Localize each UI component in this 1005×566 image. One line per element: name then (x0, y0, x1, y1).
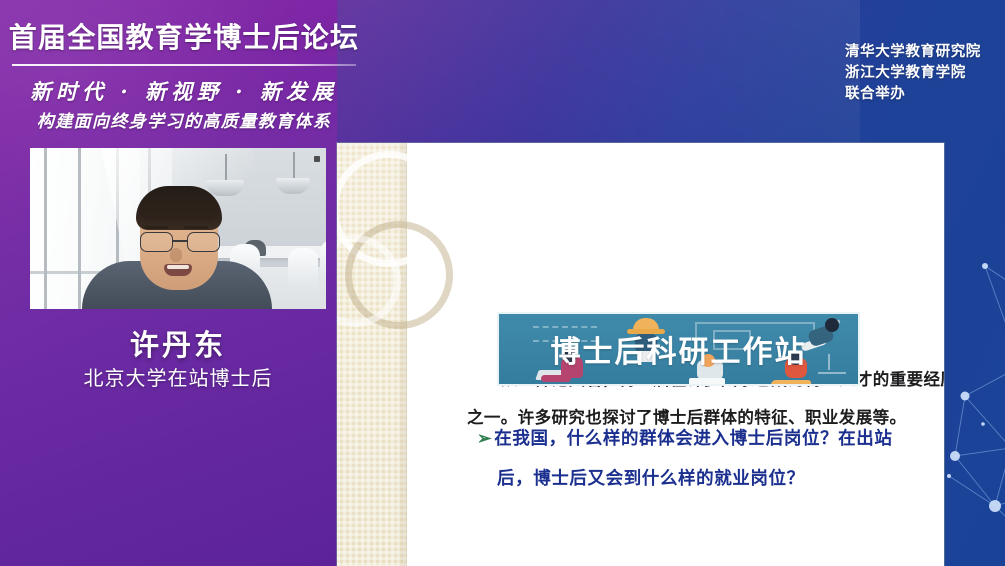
speaker-hair (136, 186, 222, 230)
speaker-name: 许丹东 (30, 322, 326, 364)
postdoc-workstation-banner: 博士后科研工作站 (497, 312, 860, 386)
office-chair (288, 248, 318, 288)
organizer-line-2: 浙江大学教育学院 (845, 63, 981, 84)
speaker-eyebrow (144, 226, 168, 229)
header-divider (12, 64, 356, 66)
bullet-line-1: 在我国，什么样的群体会进入博士后岗位？在出站 (494, 429, 892, 449)
organizer-line-3: 联合举办 (845, 84, 981, 105)
organizer-line-1: 清华大学教育研究院 (845, 42, 981, 63)
speaker-mouth (164, 264, 192, 276)
forum-subtitle-primary: 新时代 · 新视野 · 新发展 (12, 76, 356, 106)
bullet-line-2: 后，博士后又会到什么样的就业岗位？ (477, 459, 944, 499)
slide-surface[interactable]: 从世界范围看，博士后在许多国家已成为博士人才的重要经历之一。许多研究也探讨了博士… (337, 143, 944, 566)
forum-title: 首届全国教育学博士后论坛 (12, 14, 356, 58)
pendant-lamp-icon (276, 152, 310, 196)
office-chair (320, 240, 326, 280)
speaker-video-tile[interactable] (30, 148, 326, 309)
window-mullion (44, 148, 47, 309)
speaker-affiliation: 北京大学在站博士后 (30, 362, 326, 391)
pendant-lamp-icon (206, 154, 244, 200)
speaker-eyebrow (184, 226, 208, 229)
camera-dot-icon (314, 156, 320, 162)
speaker-nose (170, 248, 182, 262)
bullet-arrow-icon: ➢ (477, 429, 492, 449)
presentation-stage: 首届全国教育学博士后论坛 新时代 · 新视野 · 新发展 构建面向终身学习的高质… (0, 0, 1005, 566)
network-nodes-svg (944, 156, 1005, 566)
banner-title-text: 博士后科研工作站 (499, 327, 858, 371)
header-banner: 首届全国教育学博士后论坛 新时代 · 新视野 · 新发展 构建面向终身学习的高质… (0, 0, 1005, 143)
forum-subtitle-secondary: 构建面向终身学习的高质量教育体系 (12, 106, 356, 132)
network-graphic (944, 143, 1005, 566)
organizer-block: 清华大学教育研究院 浙江大学教育学院 联合举办 (845, 42, 981, 105)
slide-bullet-block: ➢在我国，什么样的群体会进入博士后岗位？在出站 后，博士后又会到什么样的就业岗位… (477, 419, 944, 499)
window-mullion (78, 148, 81, 309)
